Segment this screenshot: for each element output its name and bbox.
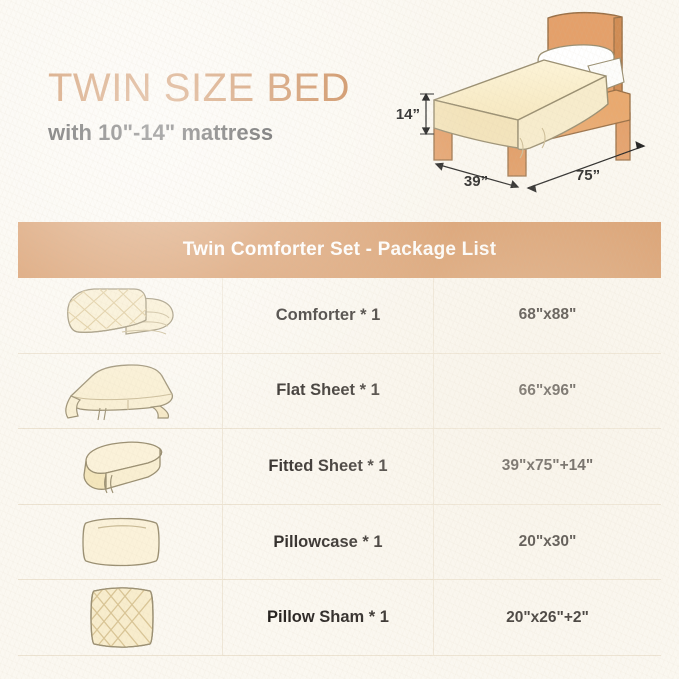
item-name: Pillowcase * 1 (273, 533, 382, 552)
hero-section: TWIN SIZE BED with 10"-14" mattress (0, 0, 679, 212)
row-icon-cell (18, 429, 223, 504)
item-name: Fitted Sheet * 1 (268, 457, 387, 476)
dimension-height (420, 94, 434, 134)
table-header-bar: Twin Comforter Set - Package List (18, 222, 661, 278)
row-size-cell: 39"x75"+14" (434, 429, 661, 504)
pillow-sham-icon (56, 585, 184, 651)
row-size-cell: 20"x30" (434, 505, 661, 580)
table-row: Fitted Sheet * 1 39"x75"+14" (18, 429, 661, 505)
item-size: 39"x75"+14" (502, 457, 593, 475)
row-name-cell: Flat Sheet * 1 (223, 354, 434, 429)
row-size-cell: 68"x88" (434, 278, 661, 353)
table-body: Comforter * 1 68"x88" Flat Shee (18, 278, 661, 656)
item-size: 20"x30" (519, 533, 577, 551)
flat-sheet-drape-right (152, 406, 169, 418)
row-icon-cell (18, 278, 223, 353)
item-size: 66"x96" (519, 382, 577, 400)
pillowcase-icon (56, 511, 184, 573)
page-subtitle: with 10"-14" mattress (48, 122, 350, 144)
row-size-cell: 66"x96" (434, 354, 661, 429)
table-row: Pillowcase * 1 20"x30" (18, 505, 661, 581)
item-size: 20"x26"+2" (506, 609, 589, 627)
row-name-cell: Comforter * 1 (223, 278, 434, 353)
row-size-cell: 20"x26"+2" (434, 580, 661, 655)
page-title: TWIN SIZE BED (48, 68, 350, 108)
item-name: Comforter * 1 (276, 306, 381, 325)
twin-bed-illustration: 14” 39” 75” (392, 8, 678, 203)
row-name-cell: Fitted Sheet * 1 (223, 429, 434, 504)
table-header-title: Twin Comforter Set - Package List (183, 239, 496, 261)
dimension-width-label: 39” (464, 173, 488, 190)
dimension-length-label: 75” (576, 167, 600, 184)
fitted-sheet-icon (56, 435, 184, 497)
row-icon-cell (18, 354, 223, 429)
folded-comforter-icon (56, 284, 184, 346)
row-icon-cell (18, 580, 223, 655)
table-row: Pillow Sham * 1 20"x26"+2" (18, 580, 661, 655)
title-block: TWIN SIZE BED with 10"-14" mattress (48, 68, 350, 144)
table-row: Flat Sheet * 1 66"x96" (18, 354, 661, 430)
package-list-table: Twin Comforter Set - Package List (18, 222, 661, 656)
item-name: Pillow Sham * 1 (267, 608, 389, 627)
item-size: 68"x88" (519, 306, 577, 324)
row-icon-cell (18, 505, 223, 580)
dimension-height-label: 14” (396, 106, 420, 123)
row-name-cell: Pillow Sham * 1 (223, 580, 434, 655)
flat-sheet-icon (56, 360, 184, 422)
flat-sheet-body (70, 365, 172, 410)
row-name-cell: Pillowcase * 1 (223, 505, 434, 580)
table-row: Comforter * 1 68"x88" (18, 278, 661, 354)
item-name: Flat Sheet * 1 (276, 381, 380, 400)
